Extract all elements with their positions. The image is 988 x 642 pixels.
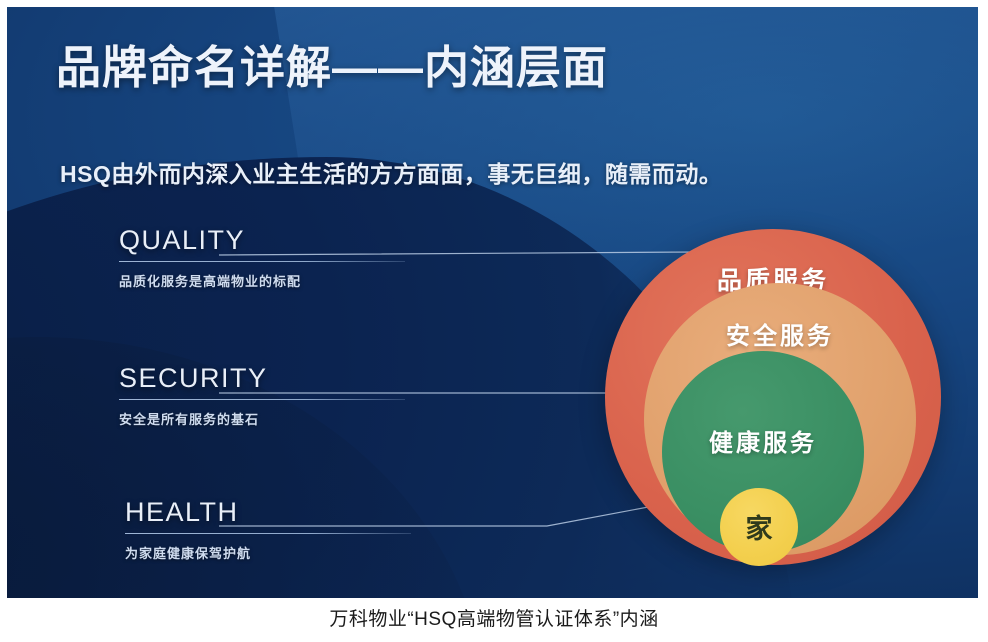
pillar-health-title: HEALTH: [125, 497, 545, 528]
pillar-health-divider: [125, 533, 411, 534]
figure-caption: 万科物业“HSQ高端物管认证体系”内涵: [0, 604, 988, 631]
pillar-quality-divider: [119, 261, 405, 262]
slide-image: 品牌命名详解——内涵层面 HSQ由外而内深入业主生活的方方面面，事无巨细，随需而…: [0, 0, 988, 642]
slide-canvas: 品牌命名详解——内涵层面 HSQ由外而内深入业主生活的方方面面，事无巨细，随需而…: [7, 7, 978, 598]
pillar-security-description: 安全是所有服务的基石: [119, 409, 539, 428]
pillar-quality-title: QUALITY: [119, 225, 539, 256]
ring-label-security: 安全服务: [644, 316, 916, 351]
pillar-quality: QUALITY 品质化服务是高端物业的标配: [7, 225, 539, 290]
pillar-health-description: 为家庭健康保驾护航: [125, 543, 545, 562]
ring-label-home: 家: [720, 507, 798, 546]
ring-label-health: 健康服务: [662, 423, 864, 458]
pillar-quality-description: 品质化服务是高端物业的标配: [119, 271, 539, 290]
pillar-security: SECURITY 安全是所有服务的基石: [7, 363, 539, 428]
pillar-security-title: SECURITY: [119, 363, 539, 394]
ring-home[interactable]: 家: [720, 488, 798, 566]
pillar-security-divider: [119, 399, 405, 400]
pillar-health: HEALTH 为家庭健康保驾护航: [7, 497, 545, 562]
